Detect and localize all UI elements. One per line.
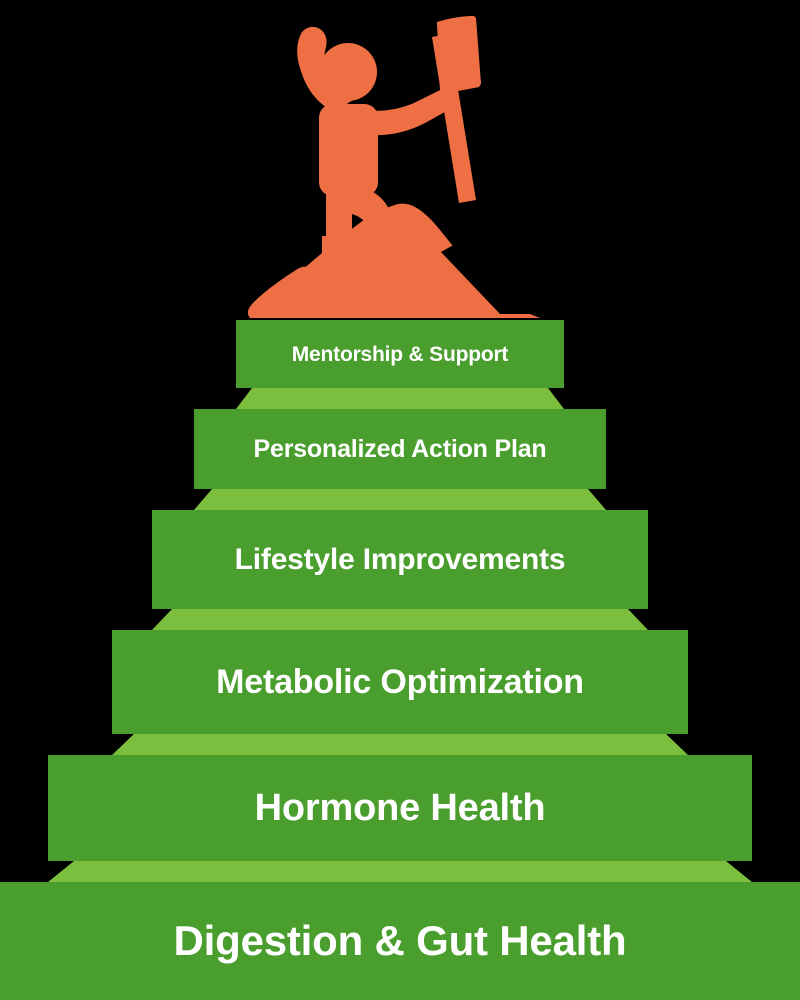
step-label-2: Personalized Action Plan xyxy=(254,437,547,462)
staircase-step-5[interactable]: Hormone Health xyxy=(48,755,752,882)
step-front-face-1: Mentorship & Support xyxy=(236,320,564,388)
step-label-6: Digestion & Gut Health xyxy=(174,920,627,962)
step-top-tread-2 xyxy=(194,489,606,510)
staircase-step-2[interactable]: Personalized Action Plan xyxy=(194,409,606,510)
step-top-tread-3 xyxy=(152,609,648,630)
step-top-tread-1 xyxy=(236,388,564,409)
step-front-face-6: Digestion & Gut Health xyxy=(0,882,800,1000)
staircase-step-4[interactable]: Metabolic Optimization xyxy=(112,630,688,755)
staircase: Mentorship & SupportPersonalized Action … xyxy=(0,0,800,1000)
staircase-step-1[interactable]: Mentorship & Support xyxy=(236,320,564,409)
step-label-4: Metabolic Optimization xyxy=(216,665,584,699)
step-front-face-2: Personalized Action Plan xyxy=(194,409,606,489)
step-front-face-3: Lifestyle Improvements xyxy=(152,510,648,609)
step-front-face-5: Hormone Health xyxy=(48,755,752,861)
step-label-1: Mentorship & Support xyxy=(292,344,508,365)
step-label-3: Lifestyle Improvements xyxy=(235,545,566,575)
staircase-step-6[interactable]: Digestion & Gut Health xyxy=(0,882,800,1000)
step-top-tread-4 xyxy=(112,734,688,755)
step-label-5: Hormone Health xyxy=(255,789,546,827)
staircase-step-3[interactable]: Lifestyle Improvements xyxy=(152,510,648,630)
step-top-tread-5 xyxy=(48,861,752,882)
infographic-canvas: Mentorship & SupportPersonalized Action … xyxy=(0,0,800,1000)
step-front-face-4: Metabolic Optimization xyxy=(112,630,688,734)
